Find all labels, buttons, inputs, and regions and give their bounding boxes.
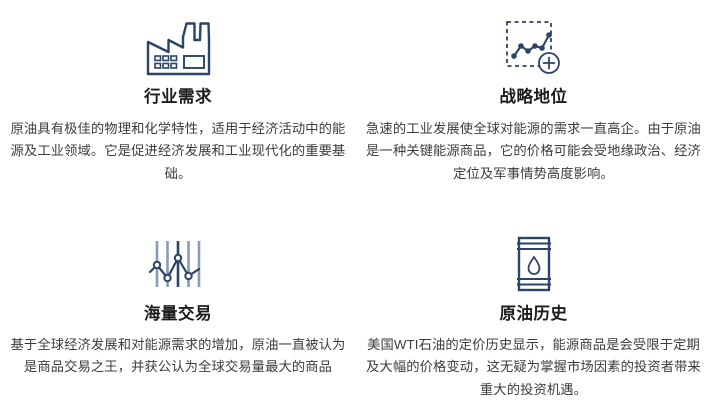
feature-card-industry-demand: 行业需求 原油具有极佳的物理和化学特性，适用于经济活动中的能源及工业领域。它是促…: [0, 0, 356, 207]
card-title: 战略地位: [500, 89, 568, 106]
card-title: 原油历史: [500, 306, 568, 323]
oil-barrel-icon: [508, 225, 560, 303]
feature-card-strategic-position: 战略地位 急速的工业发展使全球对能源的需求一直高企。由于原油是一种关键能源商品，…: [356, 0, 711, 207]
volume-chart-icon: [147, 225, 209, 303]
card-body: 美国WTI石油的定价历史显示，能源商品是会受限于定期及大幅的价格变动，这无疑为掌…: [366, 334, 702, 403]
feature-card-crude-oil-history: 原油历史 美国WTI石油的定价历史显示，能源商品是会受限于定期及大幅的价格变动，…: [356, 207, 711, 414]
card-body: 急速的工业发展使全球对能源的需求一直高企。由于原油是一种关键能源商品，它的价格可…: [366, 118, 702, 187]
card-title: 海量交易: [144, 306, 212, 323]
card-title: 行业需求: [144, 89, 212, 106]
feature-grid: 行业需求 原油具有极佳的物理和化学特性，适用于经济活动中的能源及工业领域。它是促…: [0, 0, 711, 414]
card-body: 原油具有极佳的物理和化学特性，适用于经济活动中的能源及工业领域。它是促进经济发展…: [10, 118, 346, 187]
feature-card-high-volume-trading: 海量交易 基于全球经济发展和对能源需求的增加，原油一直被认为是商品交易之王，并获…: [0, 207, 356, 414]
line-chart-add-icon: [501, 8, 567, 86]
card-body: 基于全球经济发展和对能源需求的增加，原油一直被认为是商品交易之王，并获公认为全球…: [10, 334, 346, 380]
factory-icon: [142, 8, 214, 86]
